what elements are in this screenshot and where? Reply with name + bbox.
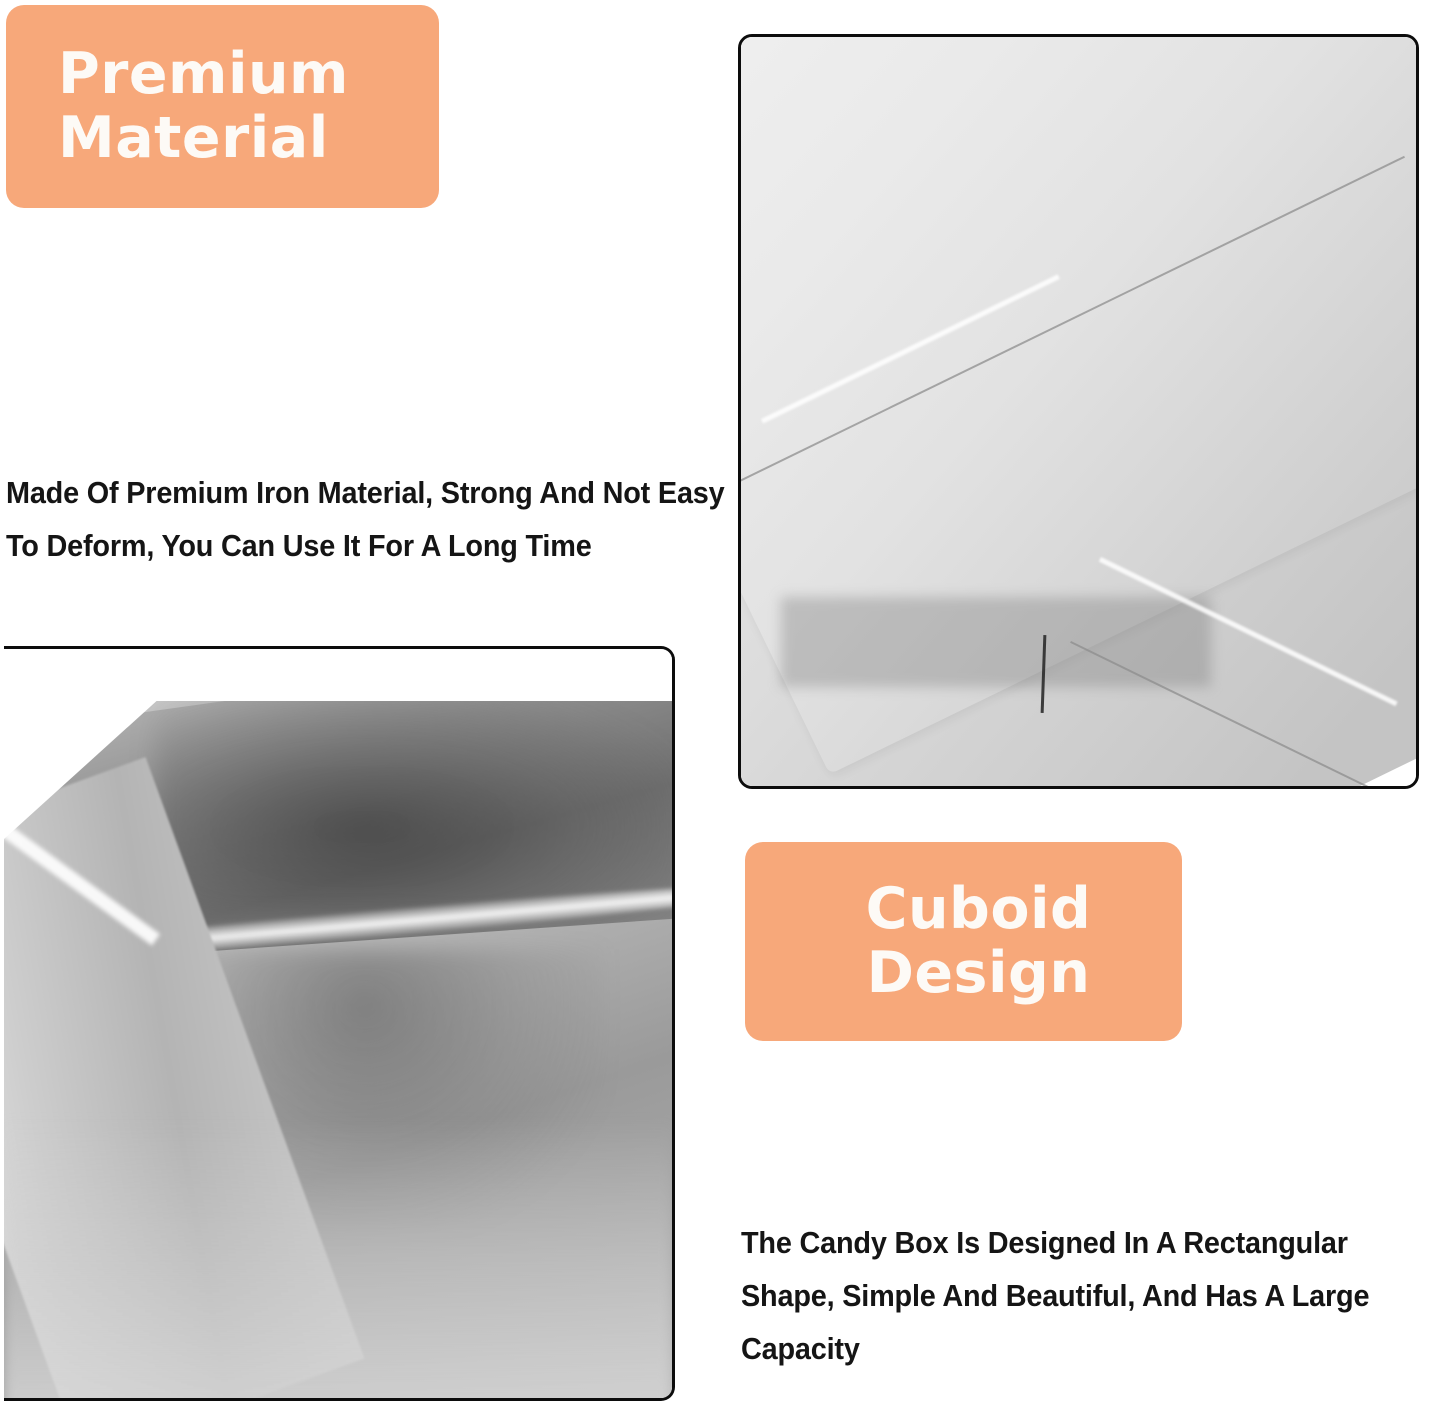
photo-closed-tin-box xyxy=(738,34,1419,789)
tin-interior-shadow xyxy=(154,689,672,919)
tin-open-illustration xyxy=(4,649,672,1398)
tin-photo-top-background xyxy=(4,649,672,701)
tin-bottom-light xyxy=(4,1118,672,1398)
badge-cuboid-design-label: Cuboid Design xyxy=(745,878,1182,1006)
infographic-page: Premium Material Made Of Premium Iron Ma… xyxy=(0,0,1445,1405)
description-cuboid-design: The Candy Box Is Designed In A Rectangul… xyxy=(741,1216,1445,1375)
badge-premium-material-label: Premium Material xyxy=(6,43,439,171)
tin-closed-illustration xyxy=(741,37,1416,786)
photo-open-tin-interior xyxy=(4,646,675,1401)
photo-closed-tin-inner xyxy=(741,37,1416,786)
description-premium-material: Made Of Premium Iron Material, Strong An… xyxy=(6,466,741,572)
tin-shadow xyxy=(781,597,1211,687)
badge-premium-material: Premium Material xyxy=(6,5,439,208)
badge-cuboid-design: Cuboid Design xyxy=(745,842,1182,1041)
photo-open-tin-inner xyxy=(4,649,672,1398)
